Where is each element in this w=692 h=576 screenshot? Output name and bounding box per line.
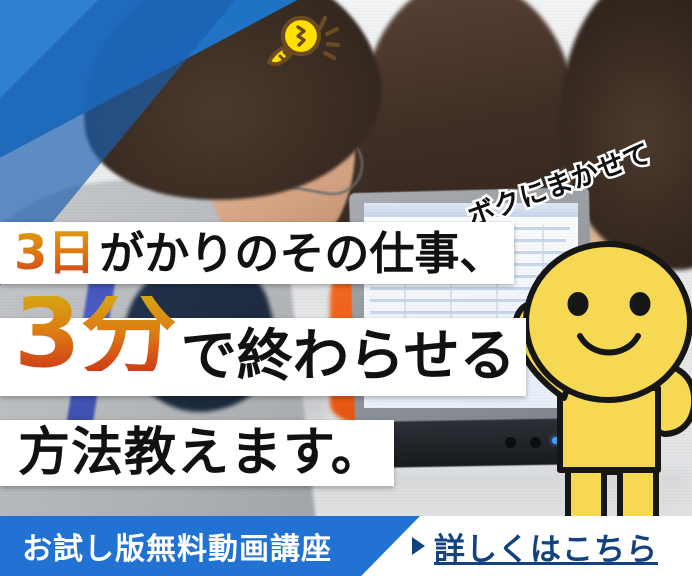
details-link[interactable]: 詳しくはこちら xyxy=(412,516,658,576)
details-link-label: 詳しくはこちら xyxy=(434,524,658,569)
lightbulb-icon xyxy=(258,8,344,72)
play-triangle-icon xyxy=(412,537,425,555)
bottom-cta-bar: お試し版無料動画講座 詳しくはこちら xyxy=(0,516,692,576)
headline-band-2: 3分 で終わらせる xyxy=(0,318,526,396)
free-trial-badge-label: お試し版無料動画講座 xyxy=(0,524,332,568)
promo-banner: ボクにまかせて 3日 がかりのその仕事、 3分 で終わらせる 3分 方法教えます… xyxy=(0,0,692,576)
headline-band-3: 方法教えます。 xyxy=(0,420,394,486)
mascot-character xyxy=(498,238,692,538)
headline-3-text: 方法教えます。 xyxy=(18,427,384,479)
headline-1-text: がかりのその仕事、 xyxy=(99,231,504,276)
headline-band-1: 3日 がかりのその仕事、 xyxy=(0,222,514,284)
headline-1-number: 3日 xyxy=(14,229,95,277)
free-trial-badge[interactable]: お試し版無料動画講座 xyxy=(0,516,420,576)
headline-2-text: で終わらせる xyxy=(181,329,516,385)
